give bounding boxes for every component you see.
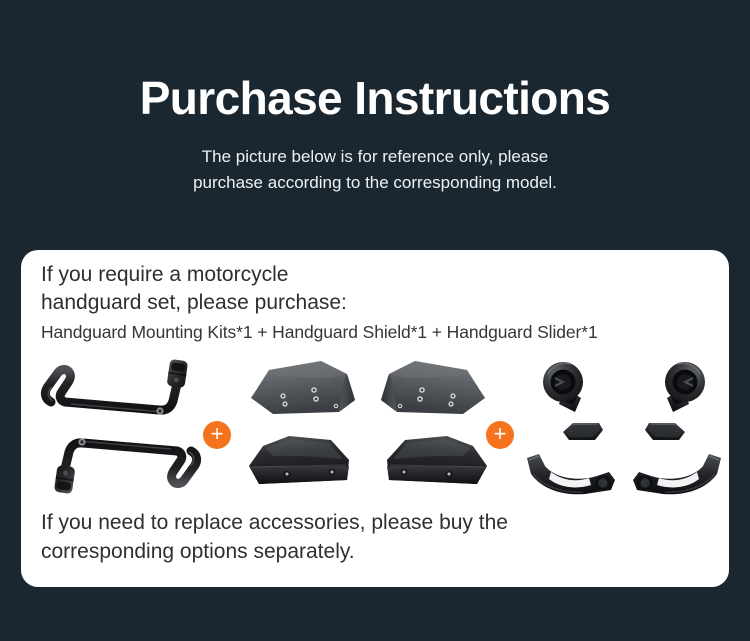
- page-subtitle-line-2: purchase according to the corresponding …: [125, 170, 625, 196]
- shield-outer-right: [387, 436, 487, 484]
- mounting-bar-left: [54, 438, 197, 494]
- slider-clamp-left: [543, 362, 583, 412]
- page-subtitle-line-1: The picture below is for reference only,…: [125, 144, 625, 170]
- slider-pad-left: [563, 423, 603, 440]
- slider-pad-right: [645, 423, 685, 440]
- clamp-head: [167, 359, 189, 388]
- product-group-handguard-slider: [519, 354, 729, 499]
- product-group-handguard-shield: [243, 354, 493, 499]
- handguard-sliders-illustration: [519, 354, 729, 499]
- page-header: Purchase Instructions The picture below …: [0, 0, 750, 196]
- card-footer-line-1: If you need to replace accessories, plea…: [41, 508, 701, 537]
- shield-inner-right: [381, 361, 485, 414]
- page-title: Purchase Instructions: [0, 74, 750, 122]
- shield-outer-left: [249, 436, 349, 484]
- product-group-mounting-kits: [31, 354, 211, 499]
- parts-list-line: Handguard Mounting Kits*1 + Handguard Sh…: [41, 322, 598, 343]
- clamp-head: [54, 465, 76, 494]
- plus-separator-icon-2: +: [486, 421, 514, 449]
- card-footer-line-2: corresponding options separately.: [41, 537, 701, 566]
- mounting-bars-illustration: [31, 354, 211, 499]
- card-heading: If you require a motorcycle handguard se…: [41, 261, 701, 317]
- card-heading-line-2: handguard set, please purchase:: [41, 289, 701, 317]
- plus-separator-icon-1: +: [203, 421, 231, 449]
- card-footer-text: If you need to replace accessories, plea…: [41, 508, 701, 566]
- card-heading-line-1: If you require a motorcycle: [41, 261, 701, 289]
- slider-clamp-right: [665, 362, 705, 412]
- page-subtitle: The picture below is for reference only,…: [125, 144, 625, 196]
- purchase-instructions-card: If you require a motorcycle handguard se…: [21, 250, 729, 587]
- slider-bracket-left: [527, 454, 615, 494]
- handguard-shields-illustration: [243, 354, 493, 499]
- slider-bracket-right: [633, 454, 721, 494]
- mounting-bar-right: [45, 359, 188, 415]
- shield-inner-left: [251, 361, 355, 414]
- product-image-strip: +: [21, 354, 729, 499]
